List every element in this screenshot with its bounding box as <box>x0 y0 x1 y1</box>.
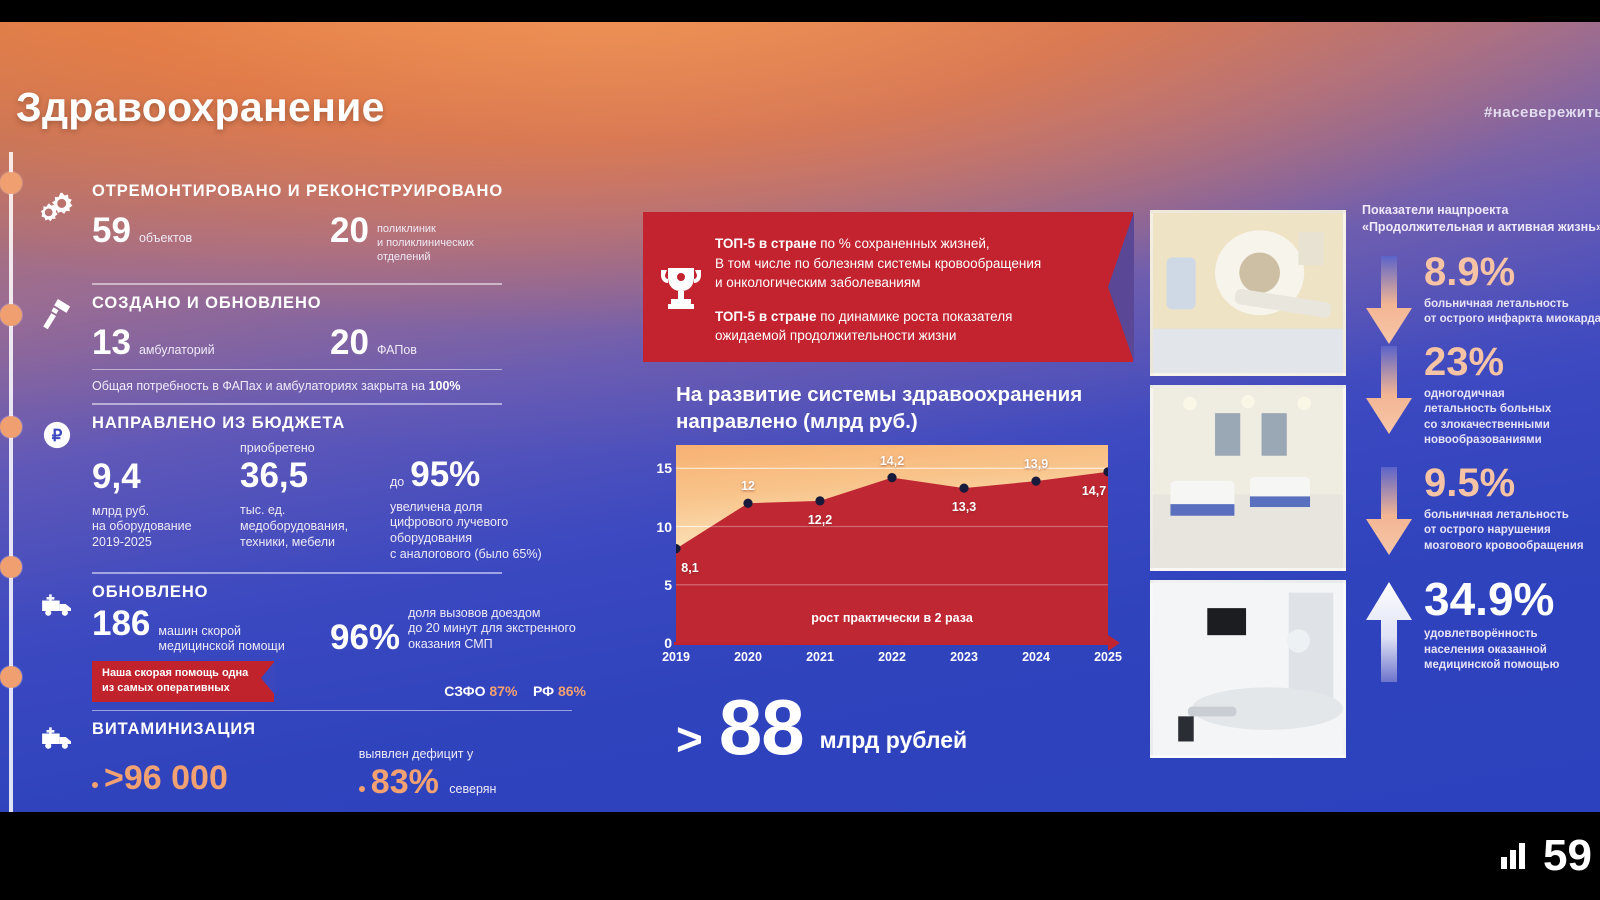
stat-unit: увеличена доля цифрового лучевого оборуд… <box>390 500 590 563</box>
stat-value: 96% <box>330 620 400 655</box>
chart-y-axis: 051015 <box>640 445 672 643</box>
ribbon-line-2: ТОП-5 в стране по динамике роста показат… <box>715 307 1099 346</box>
chart-x-tick: 2022 <box>878 650 906 664</box>
kpi-description: больничная летальность от острого инфарк… <box>1424 297 1600 328</box>
kpi-patient-satisfaction: 34.9% удовлетворённость населения оказан… <box>1362 576 1600 674</box>
chart-y-tick: 0 <box>664 635 672 651</box>
stat-unit: поликлиник и поликлинических отделений <box>377 223 474 264</box>
chart-x-axis: 2019202020212022202320242025 <box>676 650 1108 672</box>
ct-scanner-photo <box>1150 210 1346 376</box>
stat-value: 36,5 <box>240 458 390 493</box>
stat-row: 9,4 млрд руб. на оборудование 2019-2025 … <box>92 441 590 563</box>
stat-value: 20 <box>330 325 369 360</box>
chart-x-tick: 2019 <box>662 650 690 664</box>
chart-x-tick: 2024 <box>1022 650 1050 664</box>
vitamin-stat-2: выявлен дефицит у 83% северян Бесплатно … <box>359 747 590 812</box>
signal-bars-icon <box>1501 843 1525 869</box>
stat-value: 9,4 <box>92 459 240 494</box>
chart-data-label: 12,2 <box>808 513 832 527</box>
stat-unit: млрд руб. на оборудование 2019-2025 <box>92 504 240 551</box>
bullet-dot <box>359 786 365 792</box>
chart-y-tick: 15 <box>656 460 672 476</box>
right-column-heading: Показатели нацпроекта «Продолжительная и… <box>1362 202 1600 236</box>
arrow-down-icon <box>1362 256 1416 348</box>
chart-x-tick: 2023 <box>950 650 978 664</box>
kpi-stroke-mortality: 9.5% больничная летальность от острого н… <box>1362 463 1600 555</box>
ambulance-icon <box>36 583 78 625</box>
total-funding: > 88 млрд рублей <box>676 694 967 760</box>
screen: Здравоохранение #насевережить ОТРЕМОНТИР… <box>0 0 1600 900</box>
ribbon-bold-1: ТОП-5 в стране <box>715 236 816 251</box>
ribbon-line-1: ТОП-5 в стране по % сохраненных жизней, … <box>715 234 1099 293</box>
chart-x-tick: 2021 <box>806 650 834 664</box>
stat-row: 59 объектов 20 поликлиник и поликлиничес… <box>92 213 590 274</box>
operating-room-photo <box>1150 580 1346 758</box>
total-number: 88 <box>719 694 804 760</box>
ruble-coin-icon: ₽ <box>36 414 78 456</box>
chart-title: На развитие системы здравоохранения напр… <box>676 382 1116 435</box>
arrow-down-icon <box>1362 467 1416 559</box>
coverage-note-text: Общая потребность в ФАПах и амбулаториях… <box>92 379 429 393</box>
stat-unit: ФАПов <box>377 343 417 359</box>
arrow-down-icon <box>1362 346 1416 438</box>
stat-value: 13 <box>92 325 131 360</box>
stat-unit: объектов <box>139 231 192 247</box>
stat-unit: доля вызовов доездом до 20 минут для экс… <box>408 606 576 653</box>
section-repaired-reconstructed: ОТРЕМОНТИРОВАНО И РЕКОНСТРУИРОВАНО 59 об… <box>30 182 590 285</box>
stat-value: 95% <box>410 457 480 492</box>
stat-value: 83% <box>371 763 439 801</box>
chart-data-label: 8,1 <box>681 561 698 575</box>
chart-data-label: 14,2 <box>880 454 904 468</box>
kpi-oncology-mortality: 23% одногодичная летальность больных со … <box>1362 342 1600 449</box>
kpi-value: 8.9% <box>1424 252 1600 292</box>
kpi-description: одногодичная летальность больных со злок… <box>1424 387 1600 449</box>
chart-data-label: 14,7 <box>1082 484 1106 498</box>
divider <box>92 403 502 405</box>
stat-label-above: приобретено <box>240 441 390 457</box>
stat-label-above: выявлен дефицит у <box>359 747 590 763</box>
chart-data-label: 12 <box>741 479 755 493</box>
ribbon-text: ТОП-5 в стране по % сохраненных жизней, … <box>715 234 1099 360</box>
letterbox-bottom: 59 <box>0 812 1600 900</box>
healthcare-funding-chart: 051015 8,11212,214,213,313,914,7 рост пр… <box>676 445 1108 643</box>
stat-value: >96 000 <box>104 759 228 797</box>
vitamin-stat-1: >96 000 северян прошли «Витаминизацию» -… <box>92 747 359 812</box>
section-created-updated: СОЗДАНО И ОБНОВЛЕНО 13 амбулаторий 20 ФА… <box>30 294 590 405</box>
divider <box>92 369 502 371</box>
section-heading: ВИТАМИНИЗАЦИЯ <box>92 720 590 739</box>
comparison-value-szfo: 87% <box>489 683 517 699</box>
kpi-description: удовлетворённость населения оказанной ме… <box>1424 627 1600 674</box>
kpi-heart-attack-mortality: 8.9% больничная летальность от острого и… <box>1362 252 1600 328</box>
chart-x-axis-line <box>674 642 1112 645</box>
chart-data-label: 13,9 <box>1024 457 1048 471</box>
channel-number: 59 <box>1543 834 1592 878</box>
kpi-value: 34.9% <box>1424 576 1600 622</box>
stat-value: 59 <box>92 213 131 248</box>
trophy-icon <box>659 264 703 312</box>
comparison-row: СЗФО 87% РФ 86% <box>444 683 586 699</box>
chart-x-tick: 2020 <box>734 650 762 664</box>
stat-row: 13 амбулаторий 20 ФАПов <box>92 325 590 360</box>
chart-y-tick: 10 <box>656 519 672 535</box>
timeline-rail <box>9 152 13 812</box>
svg-text:₽: ₽ <box>52 426 63 445</box>
arrow-up-icon <box>1362 580 1416 686</box>
section-vitaminization: ВИТАМИНИЗАЦИЯ >96 000 северян прошли «Ви… <box>30 720 590 812</box>
divider <box>92 283 502 285</box>
page-title: Здравоохранение <box>16 84 385 131</box>
comparison-label-rf: РФ <box>533 683 554 699</box>
greater-than-symbol: > <box>676 719 703 760</box>
divider <box>92 572 502 574</box>
kpi-description: больничная летальность от острого наруше… <box>1424 508 1600 555</box>
stat-value: 186 <box>92 606 150 641</box>
budget-stat-3: до 95% увеличена доля цифрового лучевого… <box>390 441 590 563</box>
comparison-label-szfo: СЗФО <box>444 683 485 699</box>
section-heading: ОБНОВЛЕНО <box>92 583 590 602</box>
section-heading: ОТРЕМОНТИРОВАНО И РЕКОНСТРУИРОВАНО <box>92 182 590 201</box>
ribbon-bold-2: ТОП-5 в стране <box>715 309 816 324</box>
stat-row: >96 000 северян прошли «Витаминизацию» -… <box>92 747 590 812</box>
section-heading: СОЗДАНО И ОБНОВЛЕНО <box>92 294 590 313</box>
bullet-dot <box>92 782 98 788</box>
stat-unit: машин скорой медицинской помощи <box>158 624 284 655</box>
chart-axis-arrow-icon <box>1108 635 1120 651</box>
coverage-note: Общая потребность в ФАПах и амбулаториях… <box>92 379 590 393</box>
chart-annotation: рост практически в 2 раза <box>676 611 1108 625</box>
hospital-ward-photo <box>1150 385 1346 571</box>
comparison-value-rf: 86% <box>558 683 586 699</box>
budget-stat-2: приобретено 36,5 тыс. ед. медоборудовани… <box>240 441 390 551</box>
hashtag-label: #насевережить <box>1484 104 1600 121</box>
letterbox-top <box>0 0 1600 22</box>
divider <box>92 710 572 712</box>
budget-stat-1: 9,4 млрд руб. на оборудование 2019-2025 <box>92 441 240 551</box>
stat-unit: тыс. ед. медоборудования, техники, мебел… <box>240 503 390 550</box>
timeline-dot-2 <box>0 304 22 326</box>
coverage-note-value: 100% <box>429 379 461 393</box>
stat-unit: амбулаторий <box>139 343 215 359</box>
hammer-icon <box>36 292 78 334</box>
total-caption: млрд рублей <box>820 727 968 760</box>
section-ambulances: ОБНОВЛЕНО 186 машин скорой медицинской п… <box>30 583 590 711</box>
slide-healthcare: Здравоохранение #насевережить ОТРЕМОНТИР… <box>0 22 1600 812</box>
kpi-value: 9.5% <box>1424 463 1600 503</box>
section-budget: ₽ НАПРАВЛЕНО ИЗ БЮДЖЕТА 9,4 млрд руб. на… <box>30 414 590 574</box>
photo-strip <box>1150 210 1346 767</box>
left-column: ОТРЕМОНТИРОВАНО И РЕКОНСТРУИРОВАНО 59 об… <box>30 182 590 812</box>
top5-ribbon: ТОП-5 в стране по % сохраненных жизней, … <box>643 212 1133 362</box>
stat-prefix: до <box>390 475 404 491</box>
chart-x-tick: 2025 <box>1094 650 1122 664</box>
stat-row: 186 машин скорой медицинской помощи 96% … <box>92 606 590 655</box>
timeline-dot-4 <box>0 556 22 578</box>
timeline-dot-1 <box>0 172 22 194</box>
chart-y-tick: 5 <box>664 577 672 593</box>
chart-data-label: 13,3 <box>952 500 976 514</box>
timeline-dot-3 <box>0 416 22 438</box>
status-badge: Наша скорая помощь одна из самых операти… <box>92 661 274 702</box>
right-column: Показатели нацпроекта «Продолжительная и… <box>1362 202 1600 688</box>
gear-icon <box>36 184 78 226</box>
section-heading: НАПРАВЛЕНО ИЗ БЮДЖЕТА <box>92 414 590 433</box>
ambulance-icon <box>36 716 78 758</box>
stat-suffix: северян <box>449 782 496 796</box>
kpi-value: 23% <box>1424 342 1600 382</box>
timeline-dot-5 <box>0 666 22 688</box>
stat-value: 20 <box>330 213 369 248</box>
